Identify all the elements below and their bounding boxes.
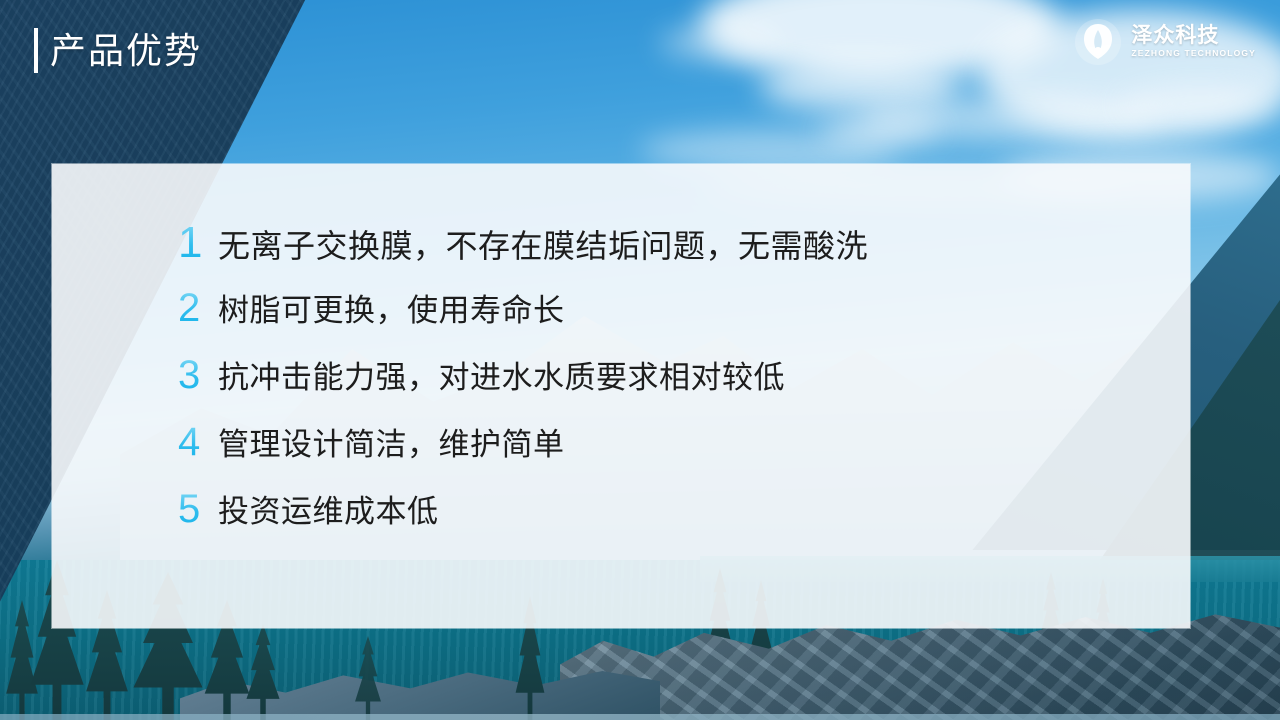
- list-item: 1 无离子交换膜，不存在膜结垢问题，无需酸洗: [178, 221, 1158, 288]
- list-item-text: 无离子交换膜，不存在膜结垢问题，无需酸洗: [218, 230, 868, 262]
- list-item: 4 管理设计简洁，维护简单: [178, 422, 1158, 489]
- list-item-text: 抗冲击能力强，对进水水质要求相对较低: [218, 362, 785, 393]
- cloud-shape: [1120, 86, 1280, 122]
- title-label: 产品优势: [50, 33, 202, 69]
- list-item-text: 投资运维成本低: [218, 496, 439, 527]
- list-item-text: 树脂可更换，使用寿命长: [218, 295, 565, 326]
- list-item-number: 1: [178, 221, 212, 265]
- list-item-text: 管理设计简洁，维护简单: [218, 429, 565, 460]
- brand-name-en: ZEZHONG TECHNOLOGY: [1131, 48, 1256, 58]
- list-item-number: 3: [178, 355, 212, 395]
- cloud-shape: [820, 118, 940, 146]
- list-item-number: 2: [178, 288, 212, 328]
- list-item: 5 投资运维成本低: [178, 489, 1158, 556]
- brand-text: 泽众科技 ZEZHONG TECHNOLOGY: [1131, 25, 1256, 58]
- brand-name-cn: 泽众科技: [1131, 25, 1219, 47]
- slide-canvas: 产品优势 泽众科技 ZEZHONG TECHNOLOGY 1 无离子交换膜，不存…: [0, 0, 1280, 720]
- list-item-number: 5: [178, 489, 212, 529]
- cloud-shape: [660, 26, 780, 60]
- list-item-number: 4: [178, 422, 212, 462]
- title-accent-bar: [34, 28, 38, 73]
- bottom-accent-band: [0, 714, 1280, 720]
- water-droplet-leaf-icon: [1074, 18, 1122, 66]
- content-panel: 1 无离子交换膜，不存在膜结垢问题，无需酸洗 2 树脂可更换，使用寿命长 3 抗…: [52, 164, 1190, 628]
- brand-logo: 泽众科技 ZEZHONG TECHNOLOGY: [1074, 18, 1256, 66]
- page-title: 产品优势: [34, 28, 202, 73]
- list-item: 3 抗冲击能力强，对进水水质要求相对较低: [178, 355, 1158, 422]
- list-item: 2 树脂可更换，使用寿命长: [178, 288, 1158, 355]
- advantages-list: 1 无离子交换膜，不存在膜结垢问题，无需酸洗 2 树脂可更换，使用寿命长 3 抗…: [178, 221, 1158, 556]
